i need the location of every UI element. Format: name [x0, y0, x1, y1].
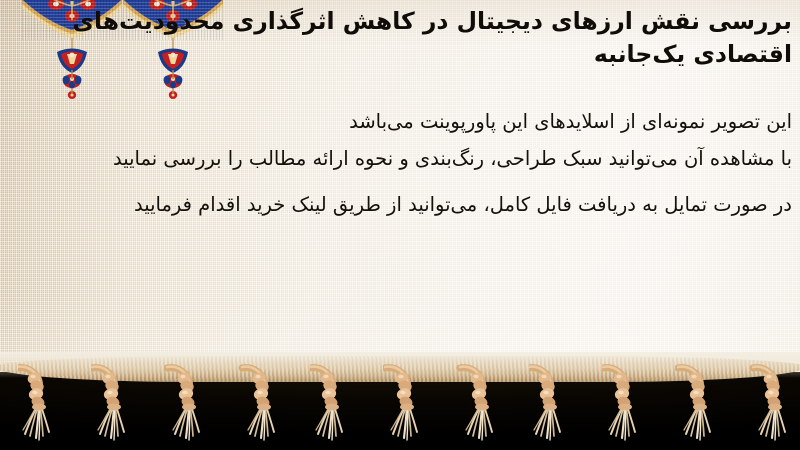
fringe-tassel [675, 362, 719, 450]
carpet-fringe [0, 352, 800, 450]
fringe-tassel [456, 362, 500, 450]
fringe-tassel [164, 362, 208, 450]
slide-body-line-3: در صورت تمایل به دریافت فایل کامل، می‌تو… [134, 191, 792, 218]
slide-body-line-2: با مشاهده آن می‌توانید سبک طراحی، رنگ‌بن… [113, 145, 792, 172]
fringe-tassel [237, 362, 281, 450]
fringe-tassel [529, 362, 573, 450]
fringe-tassel [91, 362, 135, 450]
fringe-tassel [18, 362, 62, 450]
fringe-tassel [602, 362, 646, 450]
fringe-tassel [748, 362, 792, 450]
slide-body-line-1: این تصویر نمونه‌ای از اسلایدهای این پاور… [349, 108, 792, 135]
slide-title-line-2: اقتصادی یک‌جانبه [594, 38, 792, 71]
slide-canvas: بررسی نقش ارزهای دیجیتال در کاهش اثرگذار… [0, 0, 800, 450]
fringe-tassel [310, 362, 354, 450]
slide-title-line-1: بررسی نقش ارزهای دیجیتال در کاهش اثرگذار… [72, 5, 792, 38]
fringe-tassel [383, 362, 427, 450]
